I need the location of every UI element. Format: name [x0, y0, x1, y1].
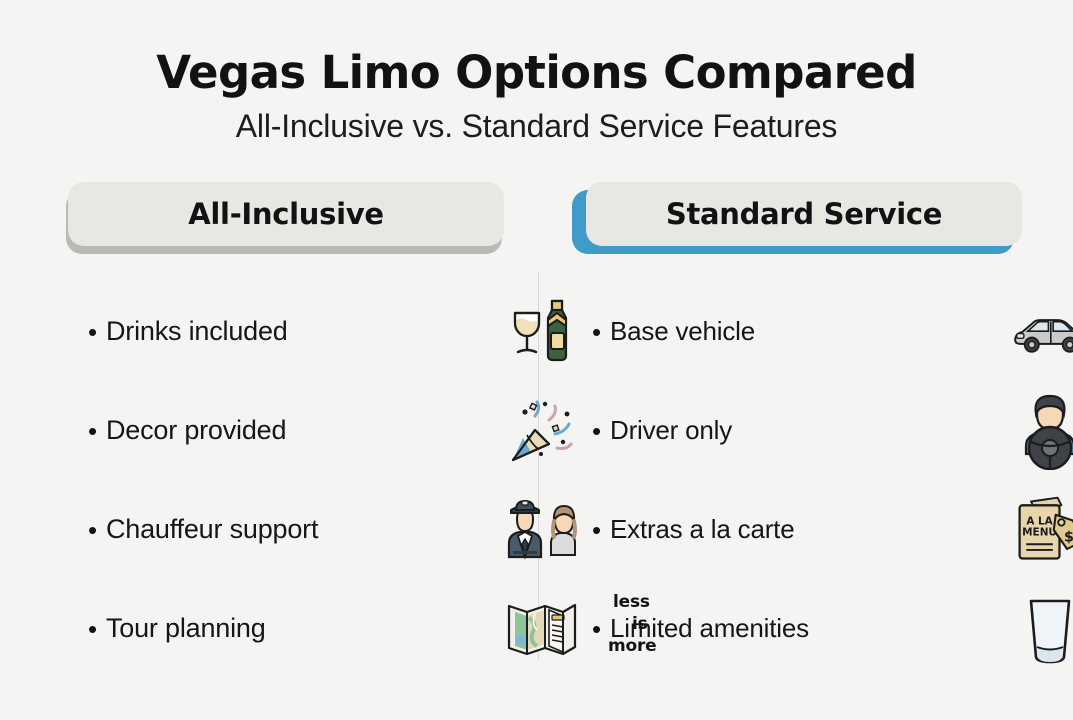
column-heading-label: All-Inclusive [188, 197, 383, 231]
overlay-word-less: less [613, 592, 650, 612]
all-inclusive-feature-list: • Drinks included • [88, 282, 558, 678]
list-item-label: Extras a la carte [610, 514, 794, 545]
sedan-car-icon [1012, 294, 1073, 370]
list-item[interactable]: • Extras a la carte A LA MENU $ [592, 480, 1062, 579]
list-item-label: Driver only [610, 415, 732, 446]
list-item-label: Tour planning [106, 613, 266, 644]
party-popper-icon [504, 393, 580, 469]
empty-drinking-glass-icon [1012, 591, 1073, 667]
overlay-word-more: more [608, 636, 657, 656]
infographic-canvas: Vegas Limo Options Compared All-Inclusiv… [0, 0, 1073, 720]
column-header-all-inclusive[interactable]: All-Inclusive [60, 182, 502, 254]
bullet-icon: • [88, 616, 106, 642]
bullet-icon: • [592, 418, 610, 444]
bullet-icon: • [592, 319, 610, 345]
svg-text:A LA: A LA [1026, 515, 1053, 527]
list-item[interactable]: • Decor provided [88, 381, 558, 480]
list-item-label-limited-amenities: Limited amenities less is more [610, 613, 809, 644]
svg-text:$: $ [1064, 529, 1073, 545]
overlay-word-is: is [632, 614, 648, 634]
list-item-label: Decor provided [106, 415, 286, 446]
list-item-label: Drinks included [106, 316, 288, 347]
column-heading-label: Standard Service [666, 197, 942, 231]
list-item[interactable]: • Tour planning [88, 579, 558, 678]
pill-face: Standard Service [586, 182, 1022, 246]
folded-map-icon [504, 591, 580, 667]
list-item[interactable]: • Base vehicle [592, 282, 1062, 381]
driver-at-steering-wheel-icon [1012, 393, 1073, 469]
list-item-label: Base vehicle [610, 316, 755, 347]
bullet-icon: • [592, 517, 610, 543]
page-title: Vegas Limo Options Compared [0, 46, 1073, 99]
standard-service-feature-list: • Base vehicle • Driver only [592, 282, 1062, 678]
list-item[interactable]: • Limited amenities less is more [592, 579, 1062, 678]
bullet-icon: • [88, 418, 106, 444]
pill-face: All-Inclusive [68, 182, 504, 246]
champagne-bottle-and-wine-glass-icon [504, 294, 580, 370]
list-item[interactable]: • Chauffeur support [88, 480, 558, 579]
bullet-icon: • [88, 517, 106, 543]
page-subtitle: All-Inclusive vs. Standard Service Featu… [0, 108, 1073, 145]
bullet-icon: • [88, 319, 106, 345]
chauffeur-and-passenger-icon [504, 492, 580, 568]
list-item-label: Chauffeur support [106, 514, 318, 545]
svg-text:MENU: MENU [1022, 526, 1057, 538]
column-header-standard-service[interactable]: Standard Service [572, 182, 1014, 254]
list-item[interactable]: • Drinks included [88, 282, 558, 381]
list-item[interactable]: • Driver only [592, 381, 1062, 480]
a-la-carte-menu-with-price-tags-icon: A LA MENU $ [1012, 492, 1073, 568]
